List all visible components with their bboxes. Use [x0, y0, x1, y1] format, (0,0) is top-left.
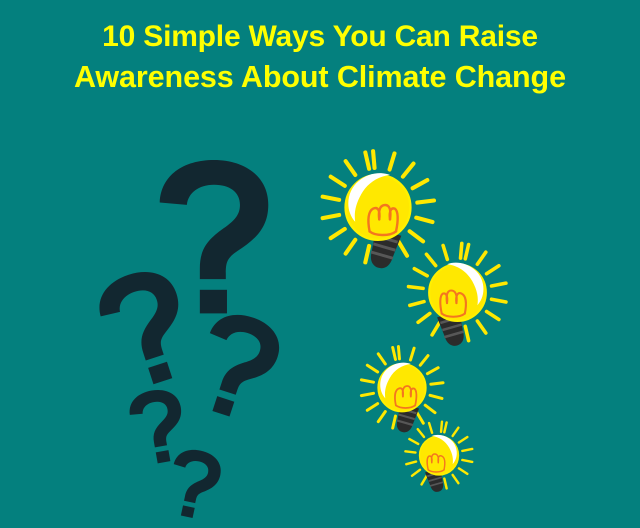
title-line-2: Awareness About Climate Change — [0, 57, 640, 98]
title-line-1: 10 Simple Ways You Can Raise — [0, 16, 640, 57]
page-title: 10 Simple Ways You Can Raise Awareness A… — [0, 16, 640, 98]
light-bulb-4 — [403, 418, 475, 512]
poster-canvas: 10 Simple Ways You Can Raise Awareness A… — [0, 0, 640, 528]
